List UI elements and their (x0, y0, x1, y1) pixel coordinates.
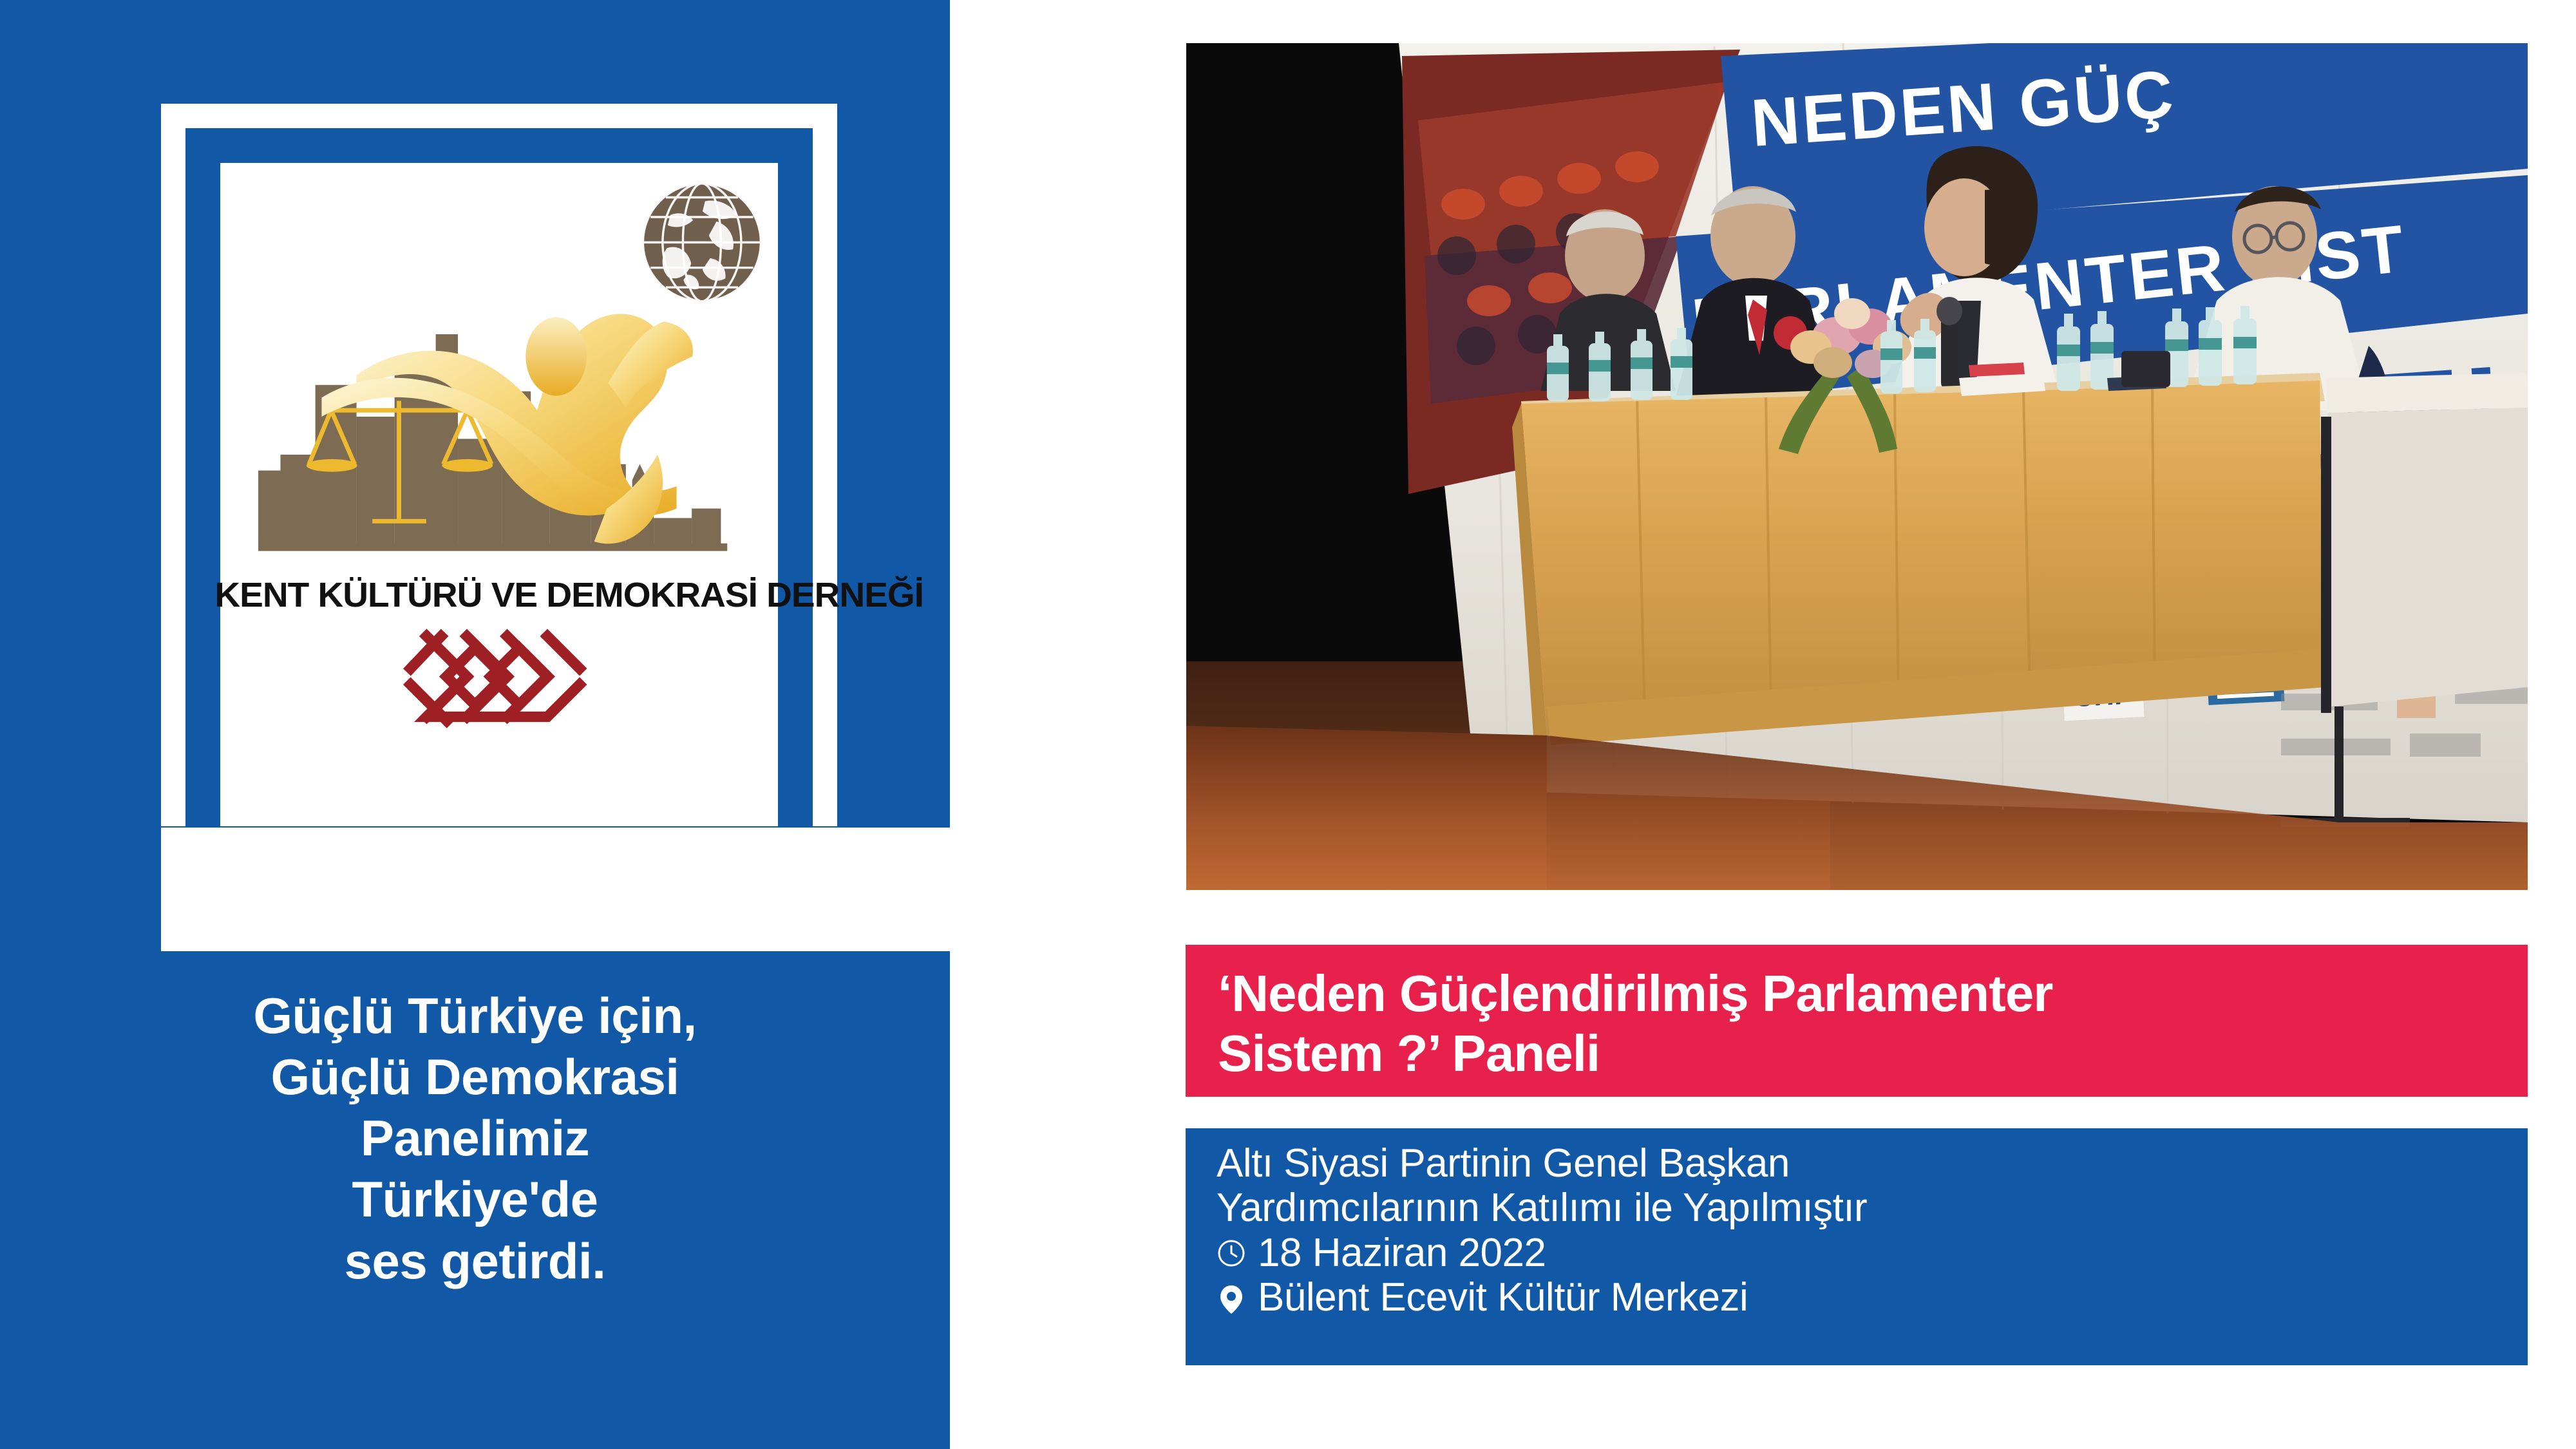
logo-artwork (220, 163, 778, 588)
turkish-knot-motif-icon (220, 620, 778, 749)
headline-line-2: Güçlü Demokrasi (0, 1046, 950, 1108)
map-pin-icon (1217, 1278, 1246, 1318)
event-photo: NEDEN GÜÇ PARLAMENTER SİST (1186, 43, 2528, 890)
association-logo-frame: KENT KÜLTÜRÜ VE DEMOKRASİ DERNEĞİ (161, 104, 837, 826)
globe-icon (643, 184, 761, 301)
event-venue-row: Bülent Ecevit Kültür Merkezi (1217, 1275, 2512, 1320)
panel-title-bar: ‘Neden Güçlendirilmiş Parlamenter Sistem… (1186, 945, 2528, 1097)
panel-white-divider-band (161, 828, 950, 951)
title-line-2: Sistem ?’ Paneli (1218, 1024, 2508, 1084)
clock-icon (1217, 1233, 1246, 1273)
left-headline: Güçlü Türkiye için, Güçlü Demokrasi Pane… (0, 985, 950, 1292)
headline-line-3: Panelimiz (0, 1108, 950, 1169)
left-brand-panel: KENT KÜLTÜRÜ VE DEMOKRASİ DERNEĞİ (0, 0, 950, 1449)
headline-line-1: Güçlü Türkiye için, (0, 985, 950, 1046)
event-info-box: Altı Siyasi Partinin Genel Başkan Yardım… (1186, 1128, 2528, 1365)
event-date-row: 18 Haziran 2022 (1217, 1231, 2512, 1275)
logo-card: KENT KÜLTÜRÜ VE DEMOKRASİ DERNEĞİ (220, 163, 778, 826)
description-line-2: Yardımcılarının Katılımı ile Yapılmıştır (1217, 1186, 2512, 1230)
headline-line-4: Türkiye'de (0, 1169, 950, 1230)
logo-inner-border: KENT KÜLTÜRÜ VE DEMOKRASİ DERNEĞİ (185, 128, 813, 826)
description-line-1: Altı Siyasi Partinin Genel Başkan (1217, 1141, 2512, 1186)
event-date: 18 Haziran 2022 (1258, 1231, 1546, 1275)
headline-line-5: ses getirdi. (0, 1231, 950, 1292)
title-line-1: ‘Neden Güçlendirilmiş Parlamenter (1218, 964, 2508, 1024)
logo-wordmark: KENT KÜLTÜRÜ VE DEMOKRASİ DERNEĞİ (214, 575, 783, 615)
event-venue: Bülent Ecevit Kültür Merkezi (1258, 1275, 1748, 1320)
